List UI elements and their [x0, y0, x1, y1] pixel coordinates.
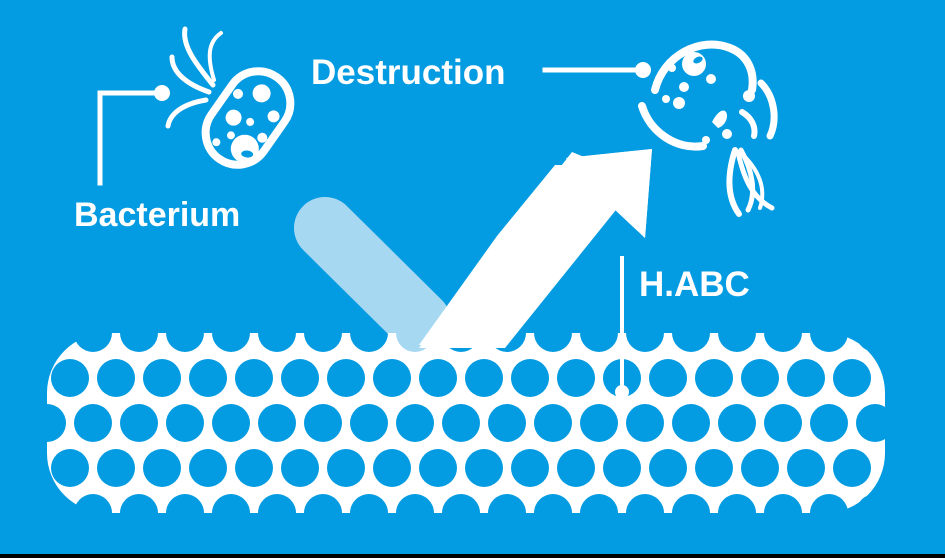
bottom-rule [0, 554, 945, 558]
infographic-canvas: Bacterium Destruction H.ABC [0, 0, 945, 558]
destruction-label: Destruction [311, 53, 505, 92]
bacterium-leader-dot [154, 85, 170, 101]
destruction-leader-dot [635, 62, 651, 78]
bacterium-label: Bacterium [74, 196, 240, 234]
infographic-scene: Bacterium Destruction H.ABC [0, 0, 945, 558]
habc-leader-dot [615, 385, 629, 399]
habc-label: H.ABC [639, 265, 750, 304]
